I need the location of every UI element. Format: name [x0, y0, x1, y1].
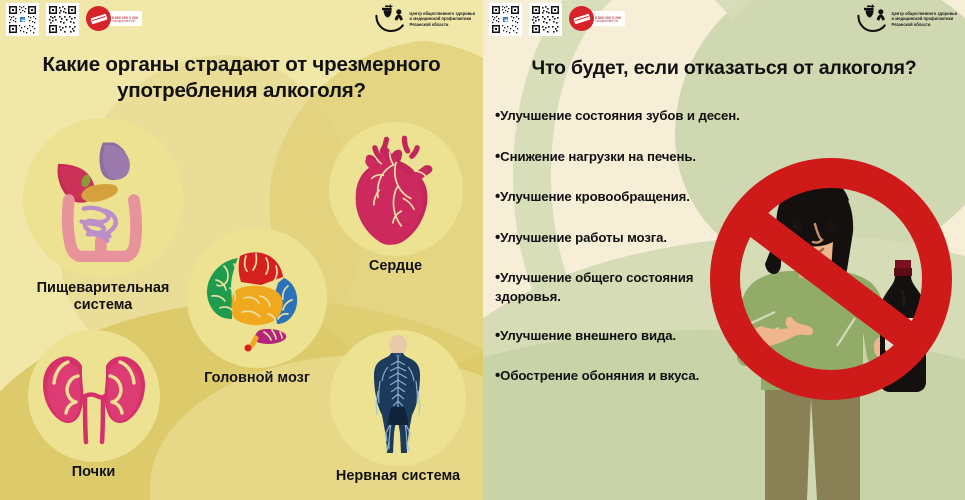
caduceus-bowl-of-hygieia-icon	[374, 4, 406, 34]
list-item-text: Улучшение работы мозга.	[500, 230, 667, 245]
hotline-site: ТАКЗДОРОВО.РФ	[595, 20, 621, 23]
digestive-system-icon	[39, 134, 167, 262]
list-item-text: Улучшение внешнего вида.	[500, 328, 676, 343]
brain-icon	[198, 242, 316, 354]
hotline-strip: 8 800 200 0 200 ТАКЗДОРОВО.РФ	[589, 11, 625, 26]
title-line-2: употребления алкоголя?	[16, 78, 467, 104]
no-alcohol-prohibition-icon	[707, 155, 955, 403]
organ-label-digestive: Пищеварительная система	[8, 280, 198, 314]
left-poster-title: Какие органы страдают от чрезмерного упо…	[0, 52, 483, 104]
organ-disc	[330, 330, 466, 466]
title-text: Что будет, если отказаться от алкоголя?	[493, 56, 955, 80]
list-item-text: Улучшение состояния зубов и десен.	[500, 108, 740, 123]
hotline-badge[interactable]: 8 800 200 0 200 ТАКЗДОРОВО.РФ	[569, 6, 625, 31]
label-line-1: Головной мозг	[172, 370, 342, 387]
crossed-out-cigarette-icon	[569, 6, 594, 31]
label-line-2: система	[8, 297, 198, 314]
organization-logo: Центр общественного здоровья и медицинск…	[856, 4, 957, 34]
right-header-bar: 8 800 200 0 200 ТАКЗДОРОВО.РФ Центр общ	[483, 0, 965, 42]
qr-code-vk[interactable]	[489, 3, 522, 36]
organ-label-kidneys: Почки	[16, 464, 171, 481]
poster-pair: 8 800 200 0 200 ТАКЗДОРОВО.РФ Центр общ	[0, 0, 965, 500]
hotline-strip: 8 800 200 0 200 ТАКЗДОРОВО.РФ	[106, 11, 142, 26]
caduceus-bowl-of-hygieia-icon	[856, 4, 888, 34]
org-line-3: Рязанской области	[410, 22, 475, 27]
organ-disc	[23, 118, 183, 278]
header-badges-group: 8 800 200 0 200 ТАКЗДОРОВО.РФ	[489, 3, 625, 36]
organ-card-kidneys: Почки	[16, 330, 171, 481]
organ-card-digestive: Пищеварительная система	[8, 118, 198, 314]
organ-card-nervous: Нервная система	[318, 330, 478, 485]
organization-name: Центр общественного здоровья и медицинск…	[892, 11, 957, 26]
organ-card-brain: Головной мозг	[172, 228, 342, 387]
qr-code-site[interactable]	[46, 3, 79, 36]
organ-disc	[187, 228, 327, 368]
organ-label-brain: Головной мозг	[172, 370, 342, 387]
right-poster: 8 800 200 0 200 ТАКЗДОРОВО.РФ Центр общ	[483, 0, 965, 500]
org-line-2: и медицинской профилактики	[892, 16, 957, 21]
organization-name: Центр общественного здоровья и медицинск…	[410, 11, 475, 26]
nervous-system-icon	[366, 335, 430, 461]
list-item-text: Обострение обоняния и вкуса.	[500, 368, 699, 383]
left-poster: 8 800 200 0 200 ТАКЗДОРОВО.РФ Центр общ	[0, 0, 483, 500]
organ-label-nervous: Нервная система	[318, 468, 478, 485]
title-line-1: Какие органы страдают от чрезмерного	[16, 52, 467, 78]
label-line-1: Пищеварительная	[8, 280, 198, 297]
list-item: •Улучшение состояния зубов и десен.	[495, 106, 750, 126]
label-line-1: Почки	[16, 464, 171, 481]
qr-code-site[interactable]	[529, 3, 562, 36]
org-line-3: Рязанской области	[892, 22, 957, 27]
organ-disc	[28, 330, 160, 462]
crossed-out-cigarette-icon	[86, 6, 111, 31]
list-item-text: Улучшение общего состояния здоровья.	[495, 270, 693, 304]
kidneys-icon	[38, 340, 150, 452]
list-item-text: Улучшение кровообращения.	[500, 189, 690, 204]
header-badges-group: 8 800 200 0 200 ТАКЗДОРОВО.РФ	[6, 3, 142, 36]
organ-disc	[329, 122, 463, 256]
qr-code-vk[interactable]	[6, 3, 39, 36]
left-header-bar: 8 800 200 0 200 ТАКЗДОРОВО.РФ Центр общ	[0, 0, 483, 42]
hotline-badge[interactable]: 8 800 200 0 200 ТАКЗДОРОВО.РФ	[86, 6, 142, 31]
right-poster-title: Что будет, если отказаться от алкоголя?	[483, 56, 965, 80]
list-item-text: Снижение нагрузки на печень.	[500, 149, 696, 164]
heart-icon	[342, 133, 450, 245]
hotline-site: ТАКЗДОРОВО.РФ	[112, 20, 138, 23]
organization-logo: Центр общественного здоровья и медицинск…	[374, 4, 475, 34]
label-line-1: Нервная система	[318, 468, 478, 485]
org-line-2: и медицинской профилактики	[410, 16, 475, 21]
